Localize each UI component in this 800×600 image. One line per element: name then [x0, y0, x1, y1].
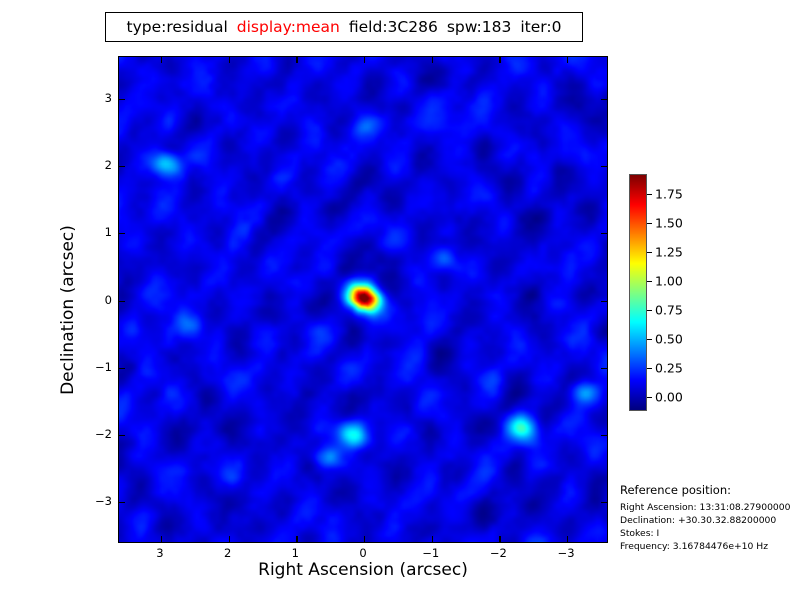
- residual-sky-heatmap[interactable]: [119, 57, 607, 542]
- colorbar-tick-label: 1.00: [655, 273, 683, 288]
- x-tick-label: −3: [558, 546, 575, 560]
- x-tick-mark: [567, 536, 568, 542]
- reference-position-heading: Reference position:: [620, 483, 800, 497]
- x-tick-mark: [364, 57, 365, 63]
- colorbar-tick-label: 1.50: [655, 215, 683, 230]
- x-tick-mark: [296, 57, 297, 63]
- x-tick-label: 3: [156, 546, 163, 560]
- x-tick-mark: [364, 536, 365, 542]
- y-tick-mark: [601, 435, 607, 436]
- x-tick-mark: [161, 536, 162, 542]
- image-info-title-box: type:residual display:mean field:3C286 s…: [105, 12, 583, 42]
- x-axis-label: Right Ascension (arcsec): [118, 560, 608, 580]
- y-tick-label: 3: [84, 91, 112, 105]
- y-tick-mark: [119, 435, 125, 436]
- colorbar-tick-label: 0.50: [655, 331, 683, 346]
- y-tick-mark: [119, 99, 125, 100]
- reference-right-ascension: Right Ascension: 13:31:08.27900000: [620, 501, 800, 514]
- x-tick-mark: [567, 57, 568, 63]
- y-tick-label: 2: [84, 158, 112, 172]
- x-tick-mark: [499, 536, 500, 542]
- colorbar-tick-mark: [647, 252, 652, 253]
- title-token-field: field:3C286: [349, 18, 438, 36]
- colorbar-tick-mark: [647, 194, 652, 195]
- x-tick-mark: [432, 57, 433, 63]
- x-tick-label: 2: [224, 546, 231, 560]
- x-tick-mark: [432, 536, 433, 542]
- reference-frequency: Frequency: 3.16784476e+10 Hz: [620, 540, 800, 553]
- y-tick-mark: [601, 166, 607, 167]
- colorbar-tick-label: 1.25: [655, 244, 683, 259]
- y-tick-label: −1: [84, 360, 112, 374]
- y-tick-mark: [601, 502, 607, 503]
- y-tick-mark: [601, 233, 607, 234]
- x-tick-mark: [229, 57, 230, 63]
- y-tick-mark: [601, 99, 607, 100]
- x-tick-label: 0: [359, 546, 366, 560]
- y-tick-mark: [601, 301, 607, 302]
- y-tick-mark: [119, 301, 125, 302]
- y-axis-label: Declination (arcsec): [58, 200, 78, 420]
- colorbar-tick-mark: [647, 368, 652, 369]
- x-tick-mark: [229, 536, 230, 542]
- colorbar-gradient[interactable]: [629, 174, 647, 411]
- colorbar-tick-mark: [647, 397, 652, 398]
- reference-position-block: Reference position: Right Ascension: 13:…: [620, 483, 800, 553]
- y-tick-mark: [119, 233, 125, 234]
- colorbar-tick-label: 0.00: [655, 390, 683, 405]
- colorbar-tick-label: 0.75: [655, 302, 683, 317]
- colorbar-tick-label: 0.25: [655, 361, 683, 376]
- x-tick-label: −1: [422, 546, 439, 560]
- y-tick-mark: [601, 368, 607, 369]
- title-token-iter: iter:0: [520, 18, 561, 36]
- reference-stokes: Stokes: I: [620, 527, 800, 540]
- x-tick-mark: [499, 57, 500, 63]
- title-token-type: type:residual: [127, 18, 228, 36]
- colorbar-tick-label: 1.75: [655, 186, 683, 201]
- y-tick-mark: [119, 368, 125, 369]
- y-tick-label: 1: [84, 225, 112, 239]
- x-tick-mark: [161, 57, 162, 63]
- x-tick-label: −2: [490, 546, 507, 560]
- sky-image-plot[interactable]: [118, 56, 608, 543]
- y-tick-label: −2: [84, 427, 112, 441]
- title-token-display: display:mean: [237, 18, 340, 36]
- colorbar-tick-mark: [647, 310, 652, 311]
- title-token-spw: spw:183: [447, 18, 512, 36]
- y-tick-mark: [119, 502, 125, 503]
- x-tick-mark: [296, 536, 297, 542]
- y-tick-label: −3: [84, 494, 112, 508]
- y-tick-label: 0: [84, 293, 112, 307]
- y-tick-mark: [119, 166, 125, 167]
- colorbar[interactable]: 1.751.501.251.000.750.500.250.00: [629, 174, 647, 411]
- x-tick-label: 1: [292, 546, 299, 560]
- reference-declination: Declination: +30.30.32.88200000: [620, 514, 800, 527]
- colorbar-tick-mark: [647, 281, 652, 282]
- colorbar-tick-mark: [647, 339, 652, 340]
- colorbar-tick-mark: [647, 223, 652, 224]
